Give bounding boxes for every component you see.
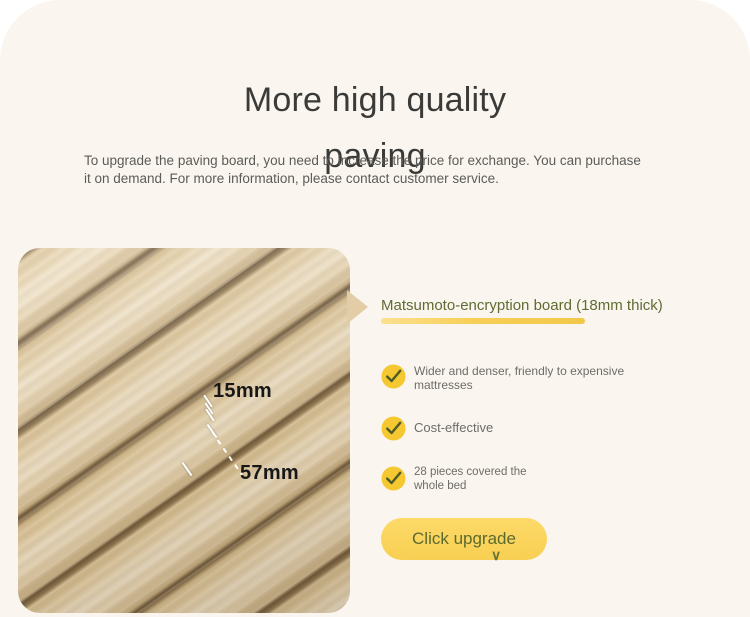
page-header: More high quality paving To upgrade the …	[0, 0, 750, 215]
list-item: Wider and denser, friendly to expensive …	[381, 364, 711, 392]
feature-list: Wider and denser, friendly to expensive …	[381, 364, 711, 517]
board-name-heading: Matsumoto-encryption board (18mm thick)	[381, 296, 663, 316]
dimension-label-57mm: 57mm	[240, 462, 299, 485]
list-item-label: Cost-effective	[414, 416, 711, 435]
check-circle-icon	[381, 416, 406, 441]
list-item: 28 pieces covered the whole bed	[381, 466, 711, 493]
cta-container: Click upgrade ∨	[381, 518, 561, 560]
list-item-label: Wider and denser, friendly to expensive …	[414, 364, 711, 392]
heading-highlight-underline	[381, 318, 585, 324]
list-item: Cost-effective	[381, 416, 711, 442]
list-item-label: 28 pieces covered the whole bed	[414, 466, 711, 493]
paving-board-photo[interactable]	[18, 248, 350, 613]
check-circle-icon	[381, 466, 406, 491]
photo-pointer-arrow-icon	[347, 290, 368, 324]
wood-grain-texture	[18, 248, 350, 613]
upgrade-details-panel: Matsumoto-encryption board (18mm thick) …	[381, 296, 721, 316]
page-subtitle: To upgrade the paving board, you need to…	[84, 152, 644, 188]
chevron-down-icon[interactable]: ∨	[491, 548, 501, 562]
dimension-label-15mm: 15mm	[213, 380, 272, 403]
upgrade-promo-page: More high quality paving To upgrade the …	[0, 0, 750, 617]
photo-shading-overlay	[18, 248, 350, 613]
check-circle-icon	[381, 364, 406, 389]
click-upgrade-button[interactable]: Click upgrade	[381, 518, 547, 560]
